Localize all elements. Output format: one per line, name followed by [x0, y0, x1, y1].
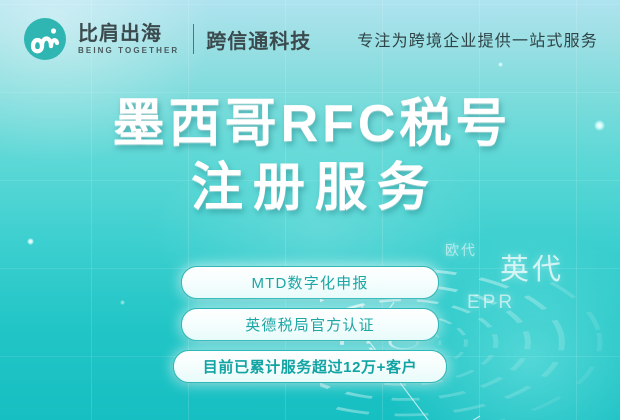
being-together-logo-icon	[22, 16, 68, 62]
banner-header: 比肩出海 BEING TOGETHER 跨信通科技 专注为跨境企业提供一站式服务	[0, 0, 620, 78]
brand-name-block: 比肩出海 BEING TOGETHER	[78, 23, 179, 55]
brand-name-en: BEING TOGETHER	[78, 46, 179, 55]
feature-pill-mtd[interactable]: MTD数字化申报	[181, 266, 439, 299]
watermark-oudai: 欧代	[445, 240, 477, 260]
header-tagline: 专注为跨境企业提供一站式服务	[357, 27, 598, 51]
page-title: 墨西哥RFC税号 注册服务	[0, 92, 620, 220]
title-line-1: 墨西哥RFC税号	[0, 92, 620, 156]
title-line-2: 注册服务	[0, 156, 620, 220]
brand-subsidiary-name: 跨信通科技	[206, 25, 311, 54]
feature-pill-cert[interactable]: 英德税局官方认证	[181, 308, 439, 341]
feature-pill-list: MTD数字化申报 英德税局官方认证 目前已累计服务超过12万+客户	[0, 266, 620, 383]
brand-divider	[193, 24, 194, 54]
sparkle-dot	[27, 238, 34, 245]
brand-name-cn: 比肩出海	[78, 23, 179, 45]
promo-banner: 欧代 英代 EPR 比肩出海 BEING TOGETHER 跨信通科技 专注为跨…	[0, 0, 620, 420]
feature-pill-customers[interactable]: 目前已累计服务超过12万+客户	[173, 350, 447, 383]
brand-lockup: 比肩出海 BEING TOGETHER 跨信通科技	[22, 16, 311, 62]
